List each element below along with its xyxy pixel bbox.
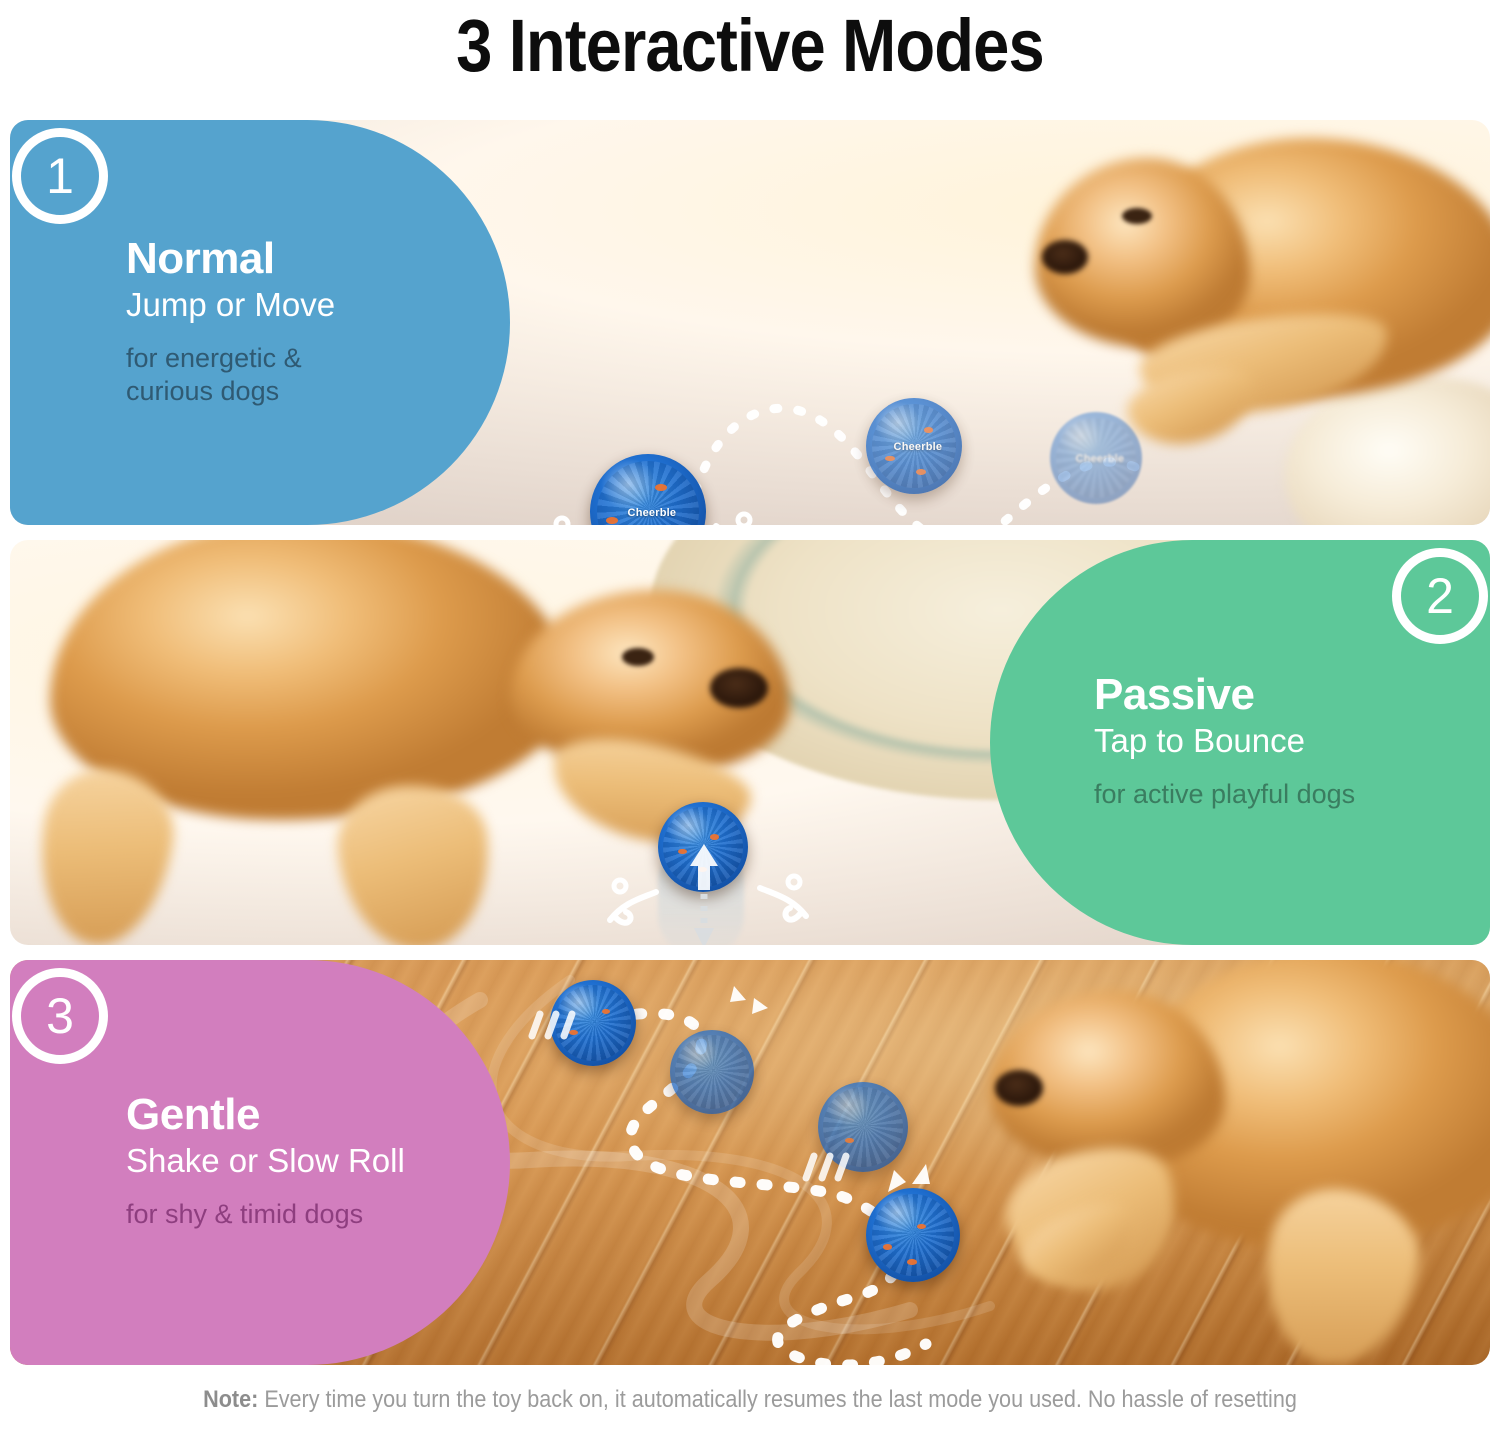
mode-badge-number: 2 (1426, 567, 1454, 625)
mode-description: for active playful dogs (1094, 778, 1355, 811)
ball-speck (655, 484, 667, 491)
mode-title: Gentle (126, 1093, 260, 1137)
mode-description: for energetic & curious dogs (126, 342, 302, 409)
ball-bouncing (658, 802, 748, 892)
ball-position-2 (670, 1030, 754, 1114)
ball-position-1 (550, 980, 636, 1066)
mode-panel-gentle: Gentle Shake or Slow Roll for shy & timi… (10, 960, 1490, 1365)
mode-badge-3: 3 (12, 968, 108, 1064)
mode-subtitle: Shake or Slow Roll (126, 1143, 405, 1180)
dog-eye (622, 648, 654, 666)
mode-panel-normal: Cheerble Cheerble Cheerble Normal J (10, 120, 1490, 525)
mode-title: Normal (126, 237, 275, 281)
dog-nose (1042, 240, 1088, 274)
footer-note: Note: Every time you turn the toy back o… (75, 1386, 1425, 1414)
mode-badge-number: 3 (46, 987, 74, 1045)
ball-ghost: Cheerble (1050, 412, 1142, 504)
mode-title: Passive (1094, 673, 1254, 717)
mode-description: for shy & timid dogs (126, 1198, 363, 1231)
mode-subtitle: Tap to Bounce (1094, 723, 1305, 760)
mode-panel-passive: Passive Tap to Bounce for active playful… (10, 540, 1490, 945)
ball-brand-label: Cheerble (1076, 453, 1125, 465)
ball-speck (916, 469, 926, 475)
ball-swirl-texture (675, 1035, 749, 1109)
dog-eye (1122, 208, 1152, 224)
ball-swirl-texture (663, 807, 742, 886)
ball-speck (606, 517, 618, 524)
footer-note-text: Every time you turn the toy back on, it … (258, 1386, 1297, 1413)
ball-speck (924, 427, 934, 433)
ball-speck (698, 867, 707, 872)
mode-badge-number: 1 (46, 147, 74, 205)
dog-nose (995, 1070, 1043, 1106)
ball-brand-label: Cheerble (628, 507, 677, 519)
ball-position-4 (866, 1188, 960, 1282)
mode-subtitle: Jump or Move (126, 287, 335, 324)
ball-speck (710, 834, 719, 839)
page-title: 3 Interactive Modes (90, 2, 1410, 89)
footer-note-label: Note: (203, 1386, 258, 1413)
ball-speck (678, 849, 687, 854)
ball-midair: Cheerble (866, 398, 962, 494)
ball-swirl-texture (823, 1087, 902, 1166)
infographic-page: 3 Interactive Modes Cheerble (0, 0, 1500, 1430)
ball-speck (907, 1259, 916, 1265)
ball-brand-label: Cheerble (894, 441, 943, 453)
ball-speck (569, 1030, 578, 1035)
ball-speck (885, 456, 895, 462)
ball-swirl-texture (555, 985, 631, 1061)
mode-badge-2: 2 (1392, 548, 1488, 644)
dog-nose (710, 668, 768, 708)
ball-position-3 (818, 1082, 908, 1172)
mode-badge-1: 1 (12, 128, 108, 224)
